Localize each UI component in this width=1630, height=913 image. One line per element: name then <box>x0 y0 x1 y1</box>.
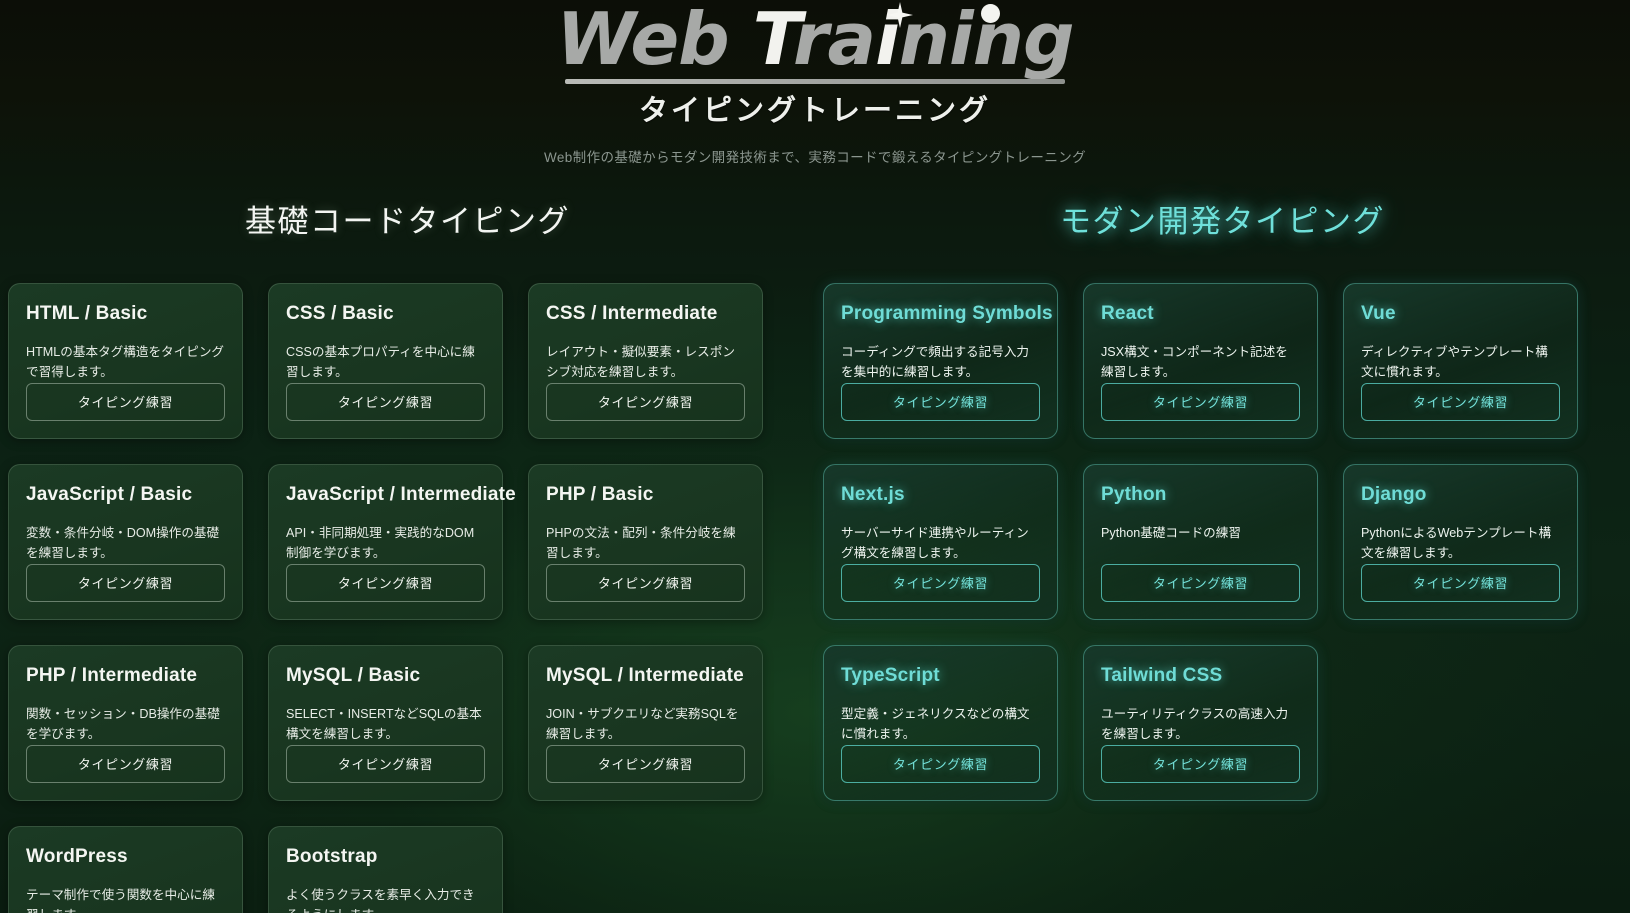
card-title: CSS / Basic <box>286 303 485 325</box>
practice-button[interactable]: タイピング練習 <box>1361 383 1560 421</box>
card-description: API・非同期処理・実践的なDOM制御を学びます。 <box>286 523 485 564</box>
card-title: React <box>1101 303 1300 325</box>
card-description: JSX構文・コンポーネント記述を練習します。 <box>1101 342 1300 383</box>
sections-container: 基礎コードタイピング HTML / Basic HTMLの基本タグ構造をタイピン… <box>0 196 1630 913</box>
card-title: CSS / Intermediate <box>546 303 745 325</box>
course-card[interactable]: JavaScript / Intermediate API・非同期処理・実践的な… <box>268 464 503 620</box>
practice-button[interactable]: タイピング練習 <box>546 564 745 602</box>
logo-ra: ra <box>793 0 875 81</box>
practice-button[interactable]: タイピング練習 <box>546 383 745 421</box>
card-title: Tailwind CSS <box>1101 665 1300 687</box>
card-description: CSSの基本プロパティを中心に練習します。 <box>286 342 485 383</box>
course-card[interactable]: TypeScript 型定義・ジェネリクスなどの構文に慣れます。 タイピング練習 <box>823 645 1058 801</box>
card-description: SELECT・INSERTなどSQLの基本構文を練習します。 <box>286 704 485 745</box>
card-title: Django <box>1361 484 1560 506</box>
logo-i: i <box>875 0 899 81</box>
practice-button[interactable]: タイピング練習 <box>26 383 225 421</box>
course-card[interactable]: React JSX構文・コンポーネント記述を練習します。 タイピング練習 <box>1083 283 1318 439</box>
card-description: よく使うクラスを素早く入力できるようにします。 <box>286 885 485 913</box>
course-card[interactable]: Bootstrap よく使うクラスを素早く入力できるようにします。 タイピング練… <box>268 826 503 913</box>
card-description: ユーティリティクラスの高速入力を練習します。 <box>1101 704 1300 745</box>
practice-button[interactable]: タイピング練習 <box>841 745 1040 783</box>
logo-underline <box>565 79 1066 84</box>
logo: Web Training <box>543 0 1088 82</box>
practice-button[interactable]: タイピング練習 <box>26 564 225 602</box>
section-title-basic: 基礎コードタイピング <box>8 196 807 241</box>
course-card[interactable]: Tailwind CSS ユーティリティクラスの高速入力を練習します。 タイピン… <box>1083 645 1318 801</box>
course-card[interactable]: Django PythonによるWebテンプレート構文を練習します。 タイピング… <box>1343 464 1578 620</box>
card-title: JavaScript / Basic <box>26 484 225 506</box>
card-title: Next.js <box>841 484 1040 506</box>
course-card[interactable]: Programming Symbols コーディングで頻出する記号入力を集中的に… <box>823 283 1058 439</box>
course-card[interactable]: HTML / Basic HTMLの基本タグ構造をタイピングで習得します。 タイ… <box>8 283 243 439</box>
course-card[interactable]: MySQL / Basic SELECT・INSERTなどSQLの基本構文を練習… <box>268 645 503 801</box>
logo-subtitle: タイピングトレーニング <box>0 87 1630 129</box>
practice-button[interactable]: タイピング練習 <box>1101 383 1300 421</box>
practice-button[interactable]: タイピング練習 <box>546 745 745 783</box>
card-title: TypeScript <box>841 665 1040 687</box>
card-title: MySQL / Basic <box>286 665 485 687</box>
card-grid-basic: HTML / Basic HTMLの基本タグ構造をタイピングで習得します。 タイ… <box>8 283 807 913</box>
card-title: JavaScript / Intermediate <box>286 484 485 506</box>
card-description: 変数・条件分岐・DOM操作の基礎を練習します。 <box>26 523 225 564</box>
course-card[interactable]: PHP / Intermediate 関数・セッション・DB操作の基礎を学びます… <box>8 645 243 801</box>
practice-button[interactable]: タイピング練習 <box>1101 745 1300 783</box>
card-description: テーマ制作で使う関数を中心に練習します。 <box>26 885 225 913</box>
card-description: 型定義・ジェネリクスなどの構文に慣れます。 <box>841 704 1040 745</box>
practice-button[interactable]: タイピング練習 <box>841 383 1040 421</box>
card-description: HTMLの基本タグ構造をタイピングで習得します。 <box>26 342 225 383</box>
course-card[interactable]: Next.js サーバーサイド連携やルーティング構文を練習します。 タイピング練… <box>823 464 1058 620</box>
logo-web: Web <box>557 0 729 81</box>
card-title: WordPress <box>26 846 225 868</box>
card-title: Programming Symbols <box>841 303 1040 325</box>
card-title: Python <box>1101 484 1300 506</box>
card-description: コーディングで頻出する記号入力を集中的に練習します。 <box>841 342 1040 383</box>
card-description: Python基礎コードの練習 <box>1101 523 1300 564</box>
course-card[interactable]: PHP / Basic PHPの文法・配列・条件分岐を練習します。 タイピング練… <box>528 464 763 620</box>
practice-button[interactable]: タイピング練習 <box>1361 564 1560 602</box>
card-title: MySQL / Intermediate <box>546 665 745 687</box>
section-basic: 基礎コードタイピング HTML / Basic HTMLの基本タグ構造をタイピン… <box>0 196 815 913</box>
card-title: HTML / Basic <box>26 303 225 325</box>
card-title: Bootstrap <box>286 846 485 868</box>
logo-i-dot <box>981 4 1000 23</box>
course-card[interactable]: CSS / Intermediate レイアウト・擬似要素・レスポンシブ対応を練… <box>528 283 763 439</box>
practice-button[interactable]: タイピング練習 <box>286 745 485 783</box>
practice-button[interactable]: タイピング練習 <box>841 564 1040 602</box>
page-header: Web Training タイピングトレーニング Web制作の基礎からモダン開発… <box>0 0 1630 166</box>
practice-button[interactable]: タイピング練習 <box>26 745 225 783</box>
practice-button[interactable]: タイピング練習 <box>286 383 485 421</box>
course-card[interactable]: JavaScript / Basic 変数・条件分岐・DOM操作の基礎を練習しま… <box>8 464 243 620</box>
card-description: JOIN・サブクエリなど実務SQLを練習します。 <box>546 704 745 745</box>
course-card[interactable]: WordPress テーマ制作で使う関数を中心に練習します。 タイピング練習 <box>8 826 243 913</box>
practice-button[interactable]: タイピング練習 <box>1101 564 1300 602</box>
card-description: ディレクティブやテンプレート構文に慣れます。 <box>1361 342 1560 383</box>
section-title-modern: モダン開発タイピング <box>823 196 1622 241</box>
logo-t: T <box>753 0 793 81</box>
page-tagline: Web制作の基礎からモダン開発技術まで、実務コードで鍛えるタイピングトレーニング <box>0 146 1630 166</box>
card-description: PythonによるWebテンプレート構文を練習します。 <box>1361 523 1560 564</box>
course-card[interactable]: Python Python基礎コードの練習 タイピング練習 <box>1083 464 1318 620</box>
practice-button[interactable]: タイピング練習 <box>286 564 485 602</box>
card-grid-modern: Programming Symbols コーディングで頻出する記号入力を集中的に… <box>823 283 1622 801</box>
card-description: PHPの文法・配列・条件分岐を練習します。 <box>546 523 745 564</box>
card-title: PHP / Intermediate <box>26 665 225 687</box>
section-modern: モダン開発タイピング Programming Symbols コーディングで頻出… <box>815 196 1630 913</box>
course-card[interactable]: Vue ディレクティブやテンプレート構文に慣れます。 タイピング練習 <box>1343 283 1578 439</box>
card-description: サーバーサイド連携やルーティング構文を練習します。 <box>841 523 1040 564</box>
card-title: Vue <box>1361 303 1560 325</box>
page-root: Web Training タイピングトレーニング Web制作の基礎からモダン開発… <box>0 0 1630 913</box>
course-card[interactable]: CSS / Basic CSSの基本プロパティを中心に練習します。 タイピング練… <box>268 283 503 439</box>
card-description: レイアウト・擬似要素・レスポンシブ対応を練習します。 <box>546 342 745 383</box>
card-title: PHP / Basic <box>546 484 745 506</box>
course-card[interactable]: MySQL / Intermediate JOIN・サブクエリなど実務SQLを練… <box>528 645 763 801</box>
card-description: 関数・セッション・DB操作の基礎を学びます。 <box>26 704 225 745</box>
